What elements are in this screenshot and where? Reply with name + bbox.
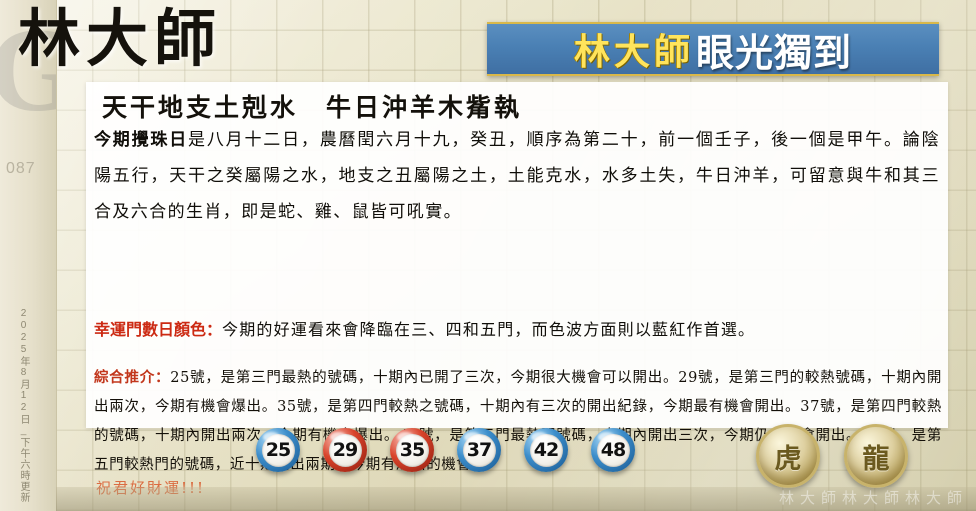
article-paragraph-text: 是八月十二日，農曆閏六月十九，癸丑，順序為第二十，前一個壬子，後一個是甲午。論陰… — [94, 130, 940, 222]
article-body: 今期攪珠日是八月十二日，農曆閏六月十九，癸丑，順序為第二十，前一個壬子，後一個是… — [94, 122, 940, 230]
footer-strip: 林大師林大師林大師 — [56, 487, 976, 511]
number-ball[interactable]: 25 — [256, 428, 300, 472]
article-headline: 天干地支土剋水 牛日沖羊木觜執 — [102, 88, 522, 124]
ball-number: 25 — [266, 439, 290, 461]
zodiac-label: 龍 — [863, 437, 890, 476]
number-ball[interactable]: 48 — [591, 428, 635, 472]
number-ball[interactable]: 29 — [323, 428, 367, 472]
summary-label: 綜合推介： — [94, 369, 170, 386]
zodiac-medallions: 虎 龍 — [756, 424, 908, 488]
article-lead-label: 今期攪珠日 — [94, 130, 188, 150]
spine-page-number: 087 — [6, 160, 36, 178]
zodiac-medallion-tiger[interactable]: 虎 — [756, 424, 820, 488]
ball-number: 48 — [601, 439, 625, 461]
ball-gloss — [330, 432, 347, 442]
ball-gloss — [598, 432, 615, 442]
article-paragraph: 今期攪珠日是八月十二日，農曆閏六月十九，癸丑，順序為第二十，前一個壬子，後一個是… — [94, 122, 940, 230]
article-sheet: 天干地支土剋水 牛日沖羊木觜執 今期攪珠日是八月十二日，農曆閏六月十九，癸丑，順… — [86, 82, 948, 428]
ball-gloss — [531, 432, 548, 442]
slogan-banner: 林大師 眼光獨到 — [487, 22, 939, 76]
brand-logo: 林大師 — [18, 8, 222, 70]
lucky-line: 幸運門數日顏色：今期的好運看來會降臨在三、四和五門，而色波方面則以藍紅作首選。 — [94, 315, 940, 345]
ball-number: 29 — [333, 439, 357, 461]
zodiac-medallion-dragon[interactable]: 龍 — [844, 424, 908, 488]
number-ball[interactable]: 37 — [457, 428, 501, 472]
recommended-numbers: 25 29 35 37 42 48 — [256, 428, 635, 472]
left-spine: G 087 2025年8月12日_下午六時更新 — [0, 0, 57, 511]
ball-number: 42 — [534, 439, 558, 461]
lucky-label: 幸運門數日顏色： — [94, 320, 222, 339]
ball-gloss — [397, 432, 414, 442]
banner-brand-text: 林大師 — [574, 23, 694, 75]
zodiac-label: 虎 — [775, 437, 802, 476]
lottery-tipsheet-page: G 087 2025年8月12日_下午六時更新 林大師 林大師 眼光獨到 天干地… — [0, 0, 976, 511]
footer-watermark: 林大師林大師林大師 — [779, 487, 968, 508]
lucky-text: 今期的好運看來會降臨在三、四和五門，而色波方面則以藍紅作首選。 — [222, 320, 755, 339]
spine-timestamp: 2025年8月12日_下午六時更新 — [16, 308, 31, 503]
number-ball[interactable]: 42 — [524, 428, 568, 472]
ball-number: 37 — [467, 439, 491, 461]
banner-slogan-text: 眼光獨到 — [696, 22, 852, 77]
ball-gloss — [464, 432, 481, 442]
number-ball[interactable]: 35 — [390, 428, 434, 472]
ball-gloss — [263, 432, 280, 442]
ball-number: 35 — [400, 439, 424, 461]
